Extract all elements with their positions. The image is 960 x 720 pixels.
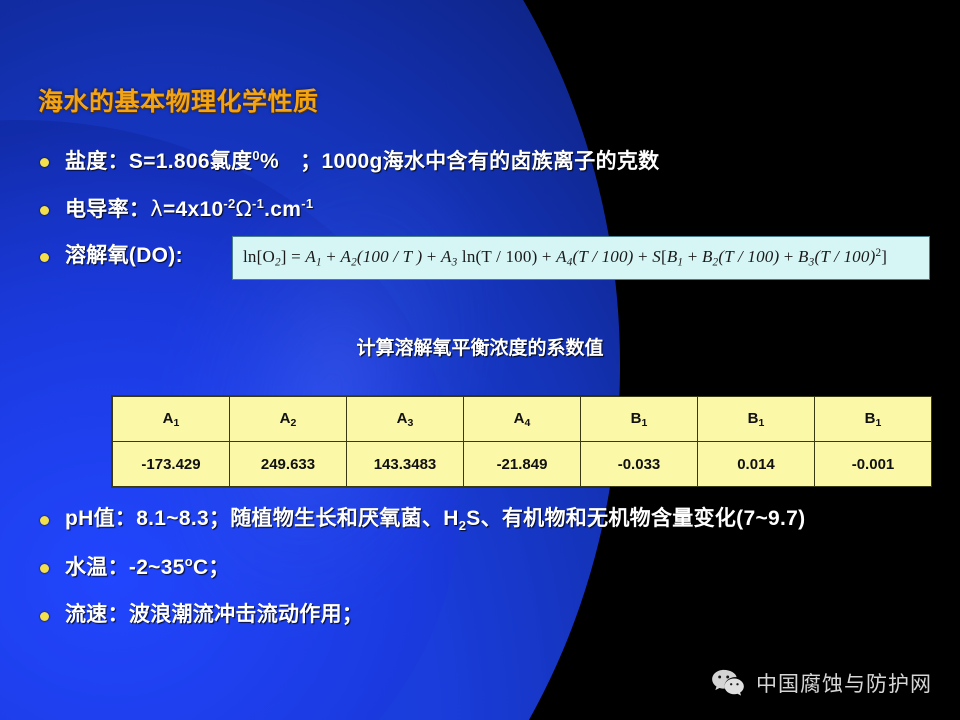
dissolved-oxygen-formula-box: ln[O2] = A1 + A2(100 / T ) + A3 ln(T / 1…	[232, 236, 930, 280]
table-caption: 计算溶解氧平衡浓度的系数值	[0, 333, 960, 360]
formula-plus-1: +	[326, 247, 336, 266]
formula-term-100T: (100 / T )	[357, 247, 422, 266]
salinity-superscript: 0	[252, 148, 260, 163]
table-header-cell: B1	[815, 397, 932, 442]
salinity-main: 盐度：S=1.806氯度	[65, 150, 252, 173]
bullet-text-conductivity: 电导率：λ=4x10-2Ω-1.cm-1	[65, 196, 313, 223]
bullet-dot-icon	[40, 253, 49, 262]
ph-part-2: S、有机物和无机物含量变化(7~9.7)	[466, 507, 805, 530]
table-header-cell: A3	[347, 397, 464, 442]
salinity-tail: % ；1000g海水中含有的卤族离子的克数	[260, 150, 660, 173]
temperature-main: 水温：-2~35	[65, 556, 185, 579]
formula-lhs: ln[O	[243, 247, 275, 266]
formula-B3: B	[798, 247, 809, 266]
bullet-dot-icon	[40, 564, 49, 573]
dissolved-oxygen-formula: ln[O2] = A1 + A2(100 / T ) + A3 ln(T / 1…	[243, 247, 887, 269]
formula-B1: B	[667, 247, 678, 266]
conductivity-exp-1: -2	[223, 196, 235, 211]
bullet-text-dissolved-oxygen: 溶解氧(DO):	[65, 243, 183, 269]
formula-bracket-close: ]	[881, 247, 887, 266]
table-value-cell: 143.3483	[347, 442, 464, 487]
conductivity-exp-3: -1	[301, 196, 313, 211]
formula-S: S	[652, 247, 661, 266]
bullet-dot-icon	[40, 158, 49, 167]
bullet-item-dissolved-oxygen: 溶解氧(DO):	[40, 243, 183, 269]
table-header-cell: A2	[230, 397, 347, 442]
bullet-dot-icon	[40, 612, 49, 621]
formula-A2: A	[340, 247, 351, 266]
formula-lhs-end: ]	[281, 247, 287, 266]
formula-term-T100-b: (T / 100)	[718, 247, 779, 266]
bullet-text-flow: 流速：波浪潮流冲击流动作用；	[65, 602, 363, 628]
bullet-item-ph: pH值：8.1~8.3；随植物生长和厌氧菌、H2S、有机物和无机物含量变化(7~…	[40, 506, 805, 534]
temperature-tail: C；	[193, 556, 230, 579]
table-header-cell: B1	[698, 397, 815, 442]
table-value-cell: -173.429	[113, 442, 230, 487]
omega-symbol: Ω	[236, 197, 252, 221]
table-header-cell: B1	[581, 397, 698, 442]
bullet-text-salinity: 盐度：S=1.806氯度0% ；1000g海水中含有的卤族离子的克数	[65, 148, 659, 175]
conductivity-exp-2: -1	[252, 196, 264, 211]
conductivity-prefix: 电导率：	[65, 198, 150, 221]
formula-plus-6: +	[784, 247, 794, 266]
table-value-cell: -0.033	[581, 442, 698, 487]
table-header-cell: A1	[113, 397, 230, 442]
conductivity-eq: =4x10	[163, 198, 223, 221]
formula-A3-sub: 3	[452, 257, 458, 269]
table-value-cell: -21.849	[464, 442, 581, 487]
bullet-item-salinity: 盐度：S=1.806氯度0% ；1000g海水中含有的卤族离子的克数	[40, 148, 659, 175]
table-header-row: A1 A2 A3 A4 B1 B1 B1	[113, 397, 932, 442]
page-title: 海水的基本物理化学性质	[38, 82, 319, 118]
bullet-item-conductivity: 电导率：λ=4x10-2Ω-1.cm-1	[40, 196, 313, 223]
table-value-cell: 0.014	[698, 442, 815, 487]
bullet-item-flow: 流速：波浪潮流冲击流动作用；	[40, 602, 363, 628]
formula-A3: A	[441, 247, 452, 266]
formula-A4: A	[556, 247, 567, 266]
lambda-symbol: λ	[150, 197, 163, 221]
formula-term-lnT: ln(T / 100)	[462, 247, 538, 266]
watermark: 中国腐蚀与防护网	[711, 668, 932, 698]
wechat-icon	[711, 668, 745, 698]
table-header-cell: A4	[464, 397, 581, 442]
formula-A1-sub: 1	[316, 257, 322, 269]
bullet-text-ph: pH值：8.1~8.3；随植物生长和厌氧菌、H2S、有机物和无机物含量变化(7~…	[65, 506, 805, 534]
formula-plus-5: +	[688, 247, 698, 266]
watermark-text: 中国腐蚀与防护网	[756, 668, 932, 698]
bullet-dot-icon	[40, 206, 49, 215]
table-value-cell: -0.001	[815, 442, 932, 487]
formula-term-T100-c: (T / 100)	[814, 247, 875, 266]
formula-A1: A	[305, 247, 316, 266]
conductivity-cm: .cm	[264, 198, 301, 221]
formula-term-T100-a: (T / 100)	[573, 247, 634, 266]
formula-plus-2: +	[427, 247, 437, 266]
formula-equals: =	[291, 247, 301, 266]
bullet-text-temperature: 水温：-2~35oC；	[65, 554, 230, 581]
bullet-item-temperature: 水温：-2~35oC；	[40, 554, 230, 581]
bullet-dot-icon	[40, 516, 49, 525]
formula-B2: B	[702, 247, 713, 266]
formula-plus-4: +	[638, 247, 648, 266]
slide-canvas: 海水的基本物理化学性质 盐度：S=1.806氯度0% ；1000g海水中含有的卤…	[0, 0, 960, 720]
formula-B1-sub: 1	[677, 257, 683, 269]
table-value-cell: 249.633	[230, 442, 347, 487]
formula-plus-3: +	[542, 247, 552, 266]
ph-part-1: pH值：8.1~8.3；随植物生长和厌氧菌、H	[65, 507, 459, 530]
degree-superscript: o	[185, 554, 193, 569]
table-row: -173.429 249.633 143.3483 -21.849 -0.033…	[113, 442, 932, 487]
coefficient-table: A1 A2 A3 A4 B1 B1 B1 -173.429 249.633 14…	[112, 396, 932, 487]
